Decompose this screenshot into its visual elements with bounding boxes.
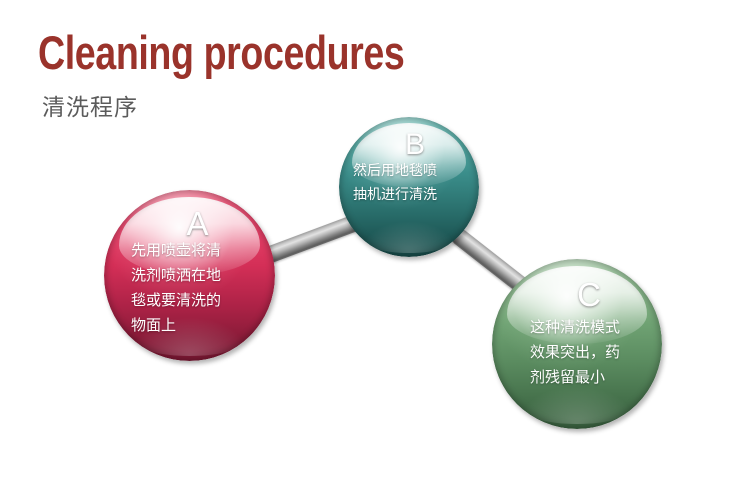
- sphere-c-fill: [492, 259, 662, 429]
- sphere-b-fill: [339, 117, 479, 257]
- sphere-a-fill: [104, 190, 275, 361]
- step-sphere-c[interactable]: C 这种清洗模式 效果突出，药 剂残留最小: [492, 259, 662, 429]
- slide-canvas: Cleaning procedures 清洗程序 A 先用喷壶将清 洗剂喷洒在地…: [0, 0, 750, 483]
- step-sphere-b[interactable]: B 然后用地毯喷 抽机进行清洗: [339, 117, 479, 257]
- step-sphere-a[interactable]: A 先用喷壶将清 洗剂喷洒在地 毯或要清洗的 物面上: [104, 190, 275, 361]
- page-subtitle: 清洗程序: [42, 88, 138, 122]
- page-title: Cleaning procedures: [38, 28, 404, 77]
